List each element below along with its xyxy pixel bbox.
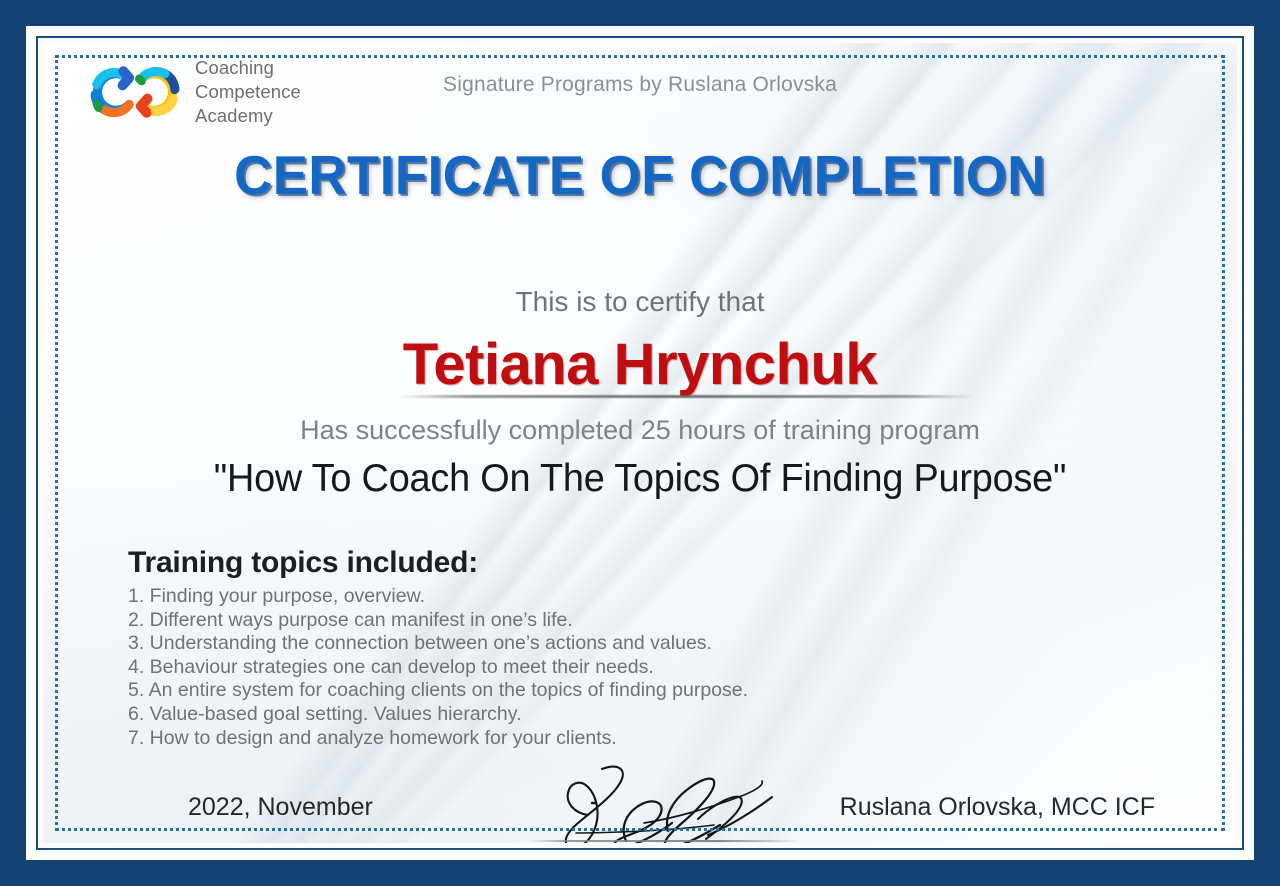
recipient-name: Tetiana Hrynchuk (43, 331, 1237, 398)
list-item: 3. Understanding the connection between … (128, 632, 748, 656)
list-item: 1. Finding your purpose, overview. (128, 585, 748, 609)
list-item: 5. An entire system for coaching clients… (128, 679, 748, 703)
certificate-title: CERTIFICATE OF COMPLETION (67, 143, 1213, 207)
issue-date: 2022, November (188, 793, 373, 822)
topics-heading: Training topics included: (128, 546, 478, 580)
signature-programs-tagline: Signature Programs by Ruslana Orlovska (43, 73, 1237, 97)
handwritten-signature-icon (548, 761, 813, 843)
signature-line (530, 840, 800, 842)
signer-name: Ruslana Orlovska, MCC ICF (840, 793, 1155, 822)
list-item: 4. Behaviour strategies one can develop … (128, 656, 748, 680)
logo-line-3: Academy (195, 104, 301, 128)
topics-list: 1. Finding your purpose, overview. 2. Di… (128, 585, 748, 750)
list-item: 2. Different ways purpose can manifest i… (128, 609, 748, 633)
certificate-paper: Coaching Competence Academy Signature Pr… (43, 43, 1237, 843)
certify-statement: This is to certify that (43, 286, 1237, 318)
certificate-document: Coaching Competence Academy Signature Pr… (0, 0, 1280, 886)
list-item: 7. How to design and analyze homework fo… (128, 727, 748, 751)
list-item: 6. Value-based goal setting. Values hier… (128, 703, 748, 727)
recipient-underline (398, 395, 974, 398)
program-title: "How To Coach On The Topics Of Finding P… (61, 457, 1219, 501)
training-hours-line: Has successfully completed 25 hours of t… (43, 415, 1237, 446)
